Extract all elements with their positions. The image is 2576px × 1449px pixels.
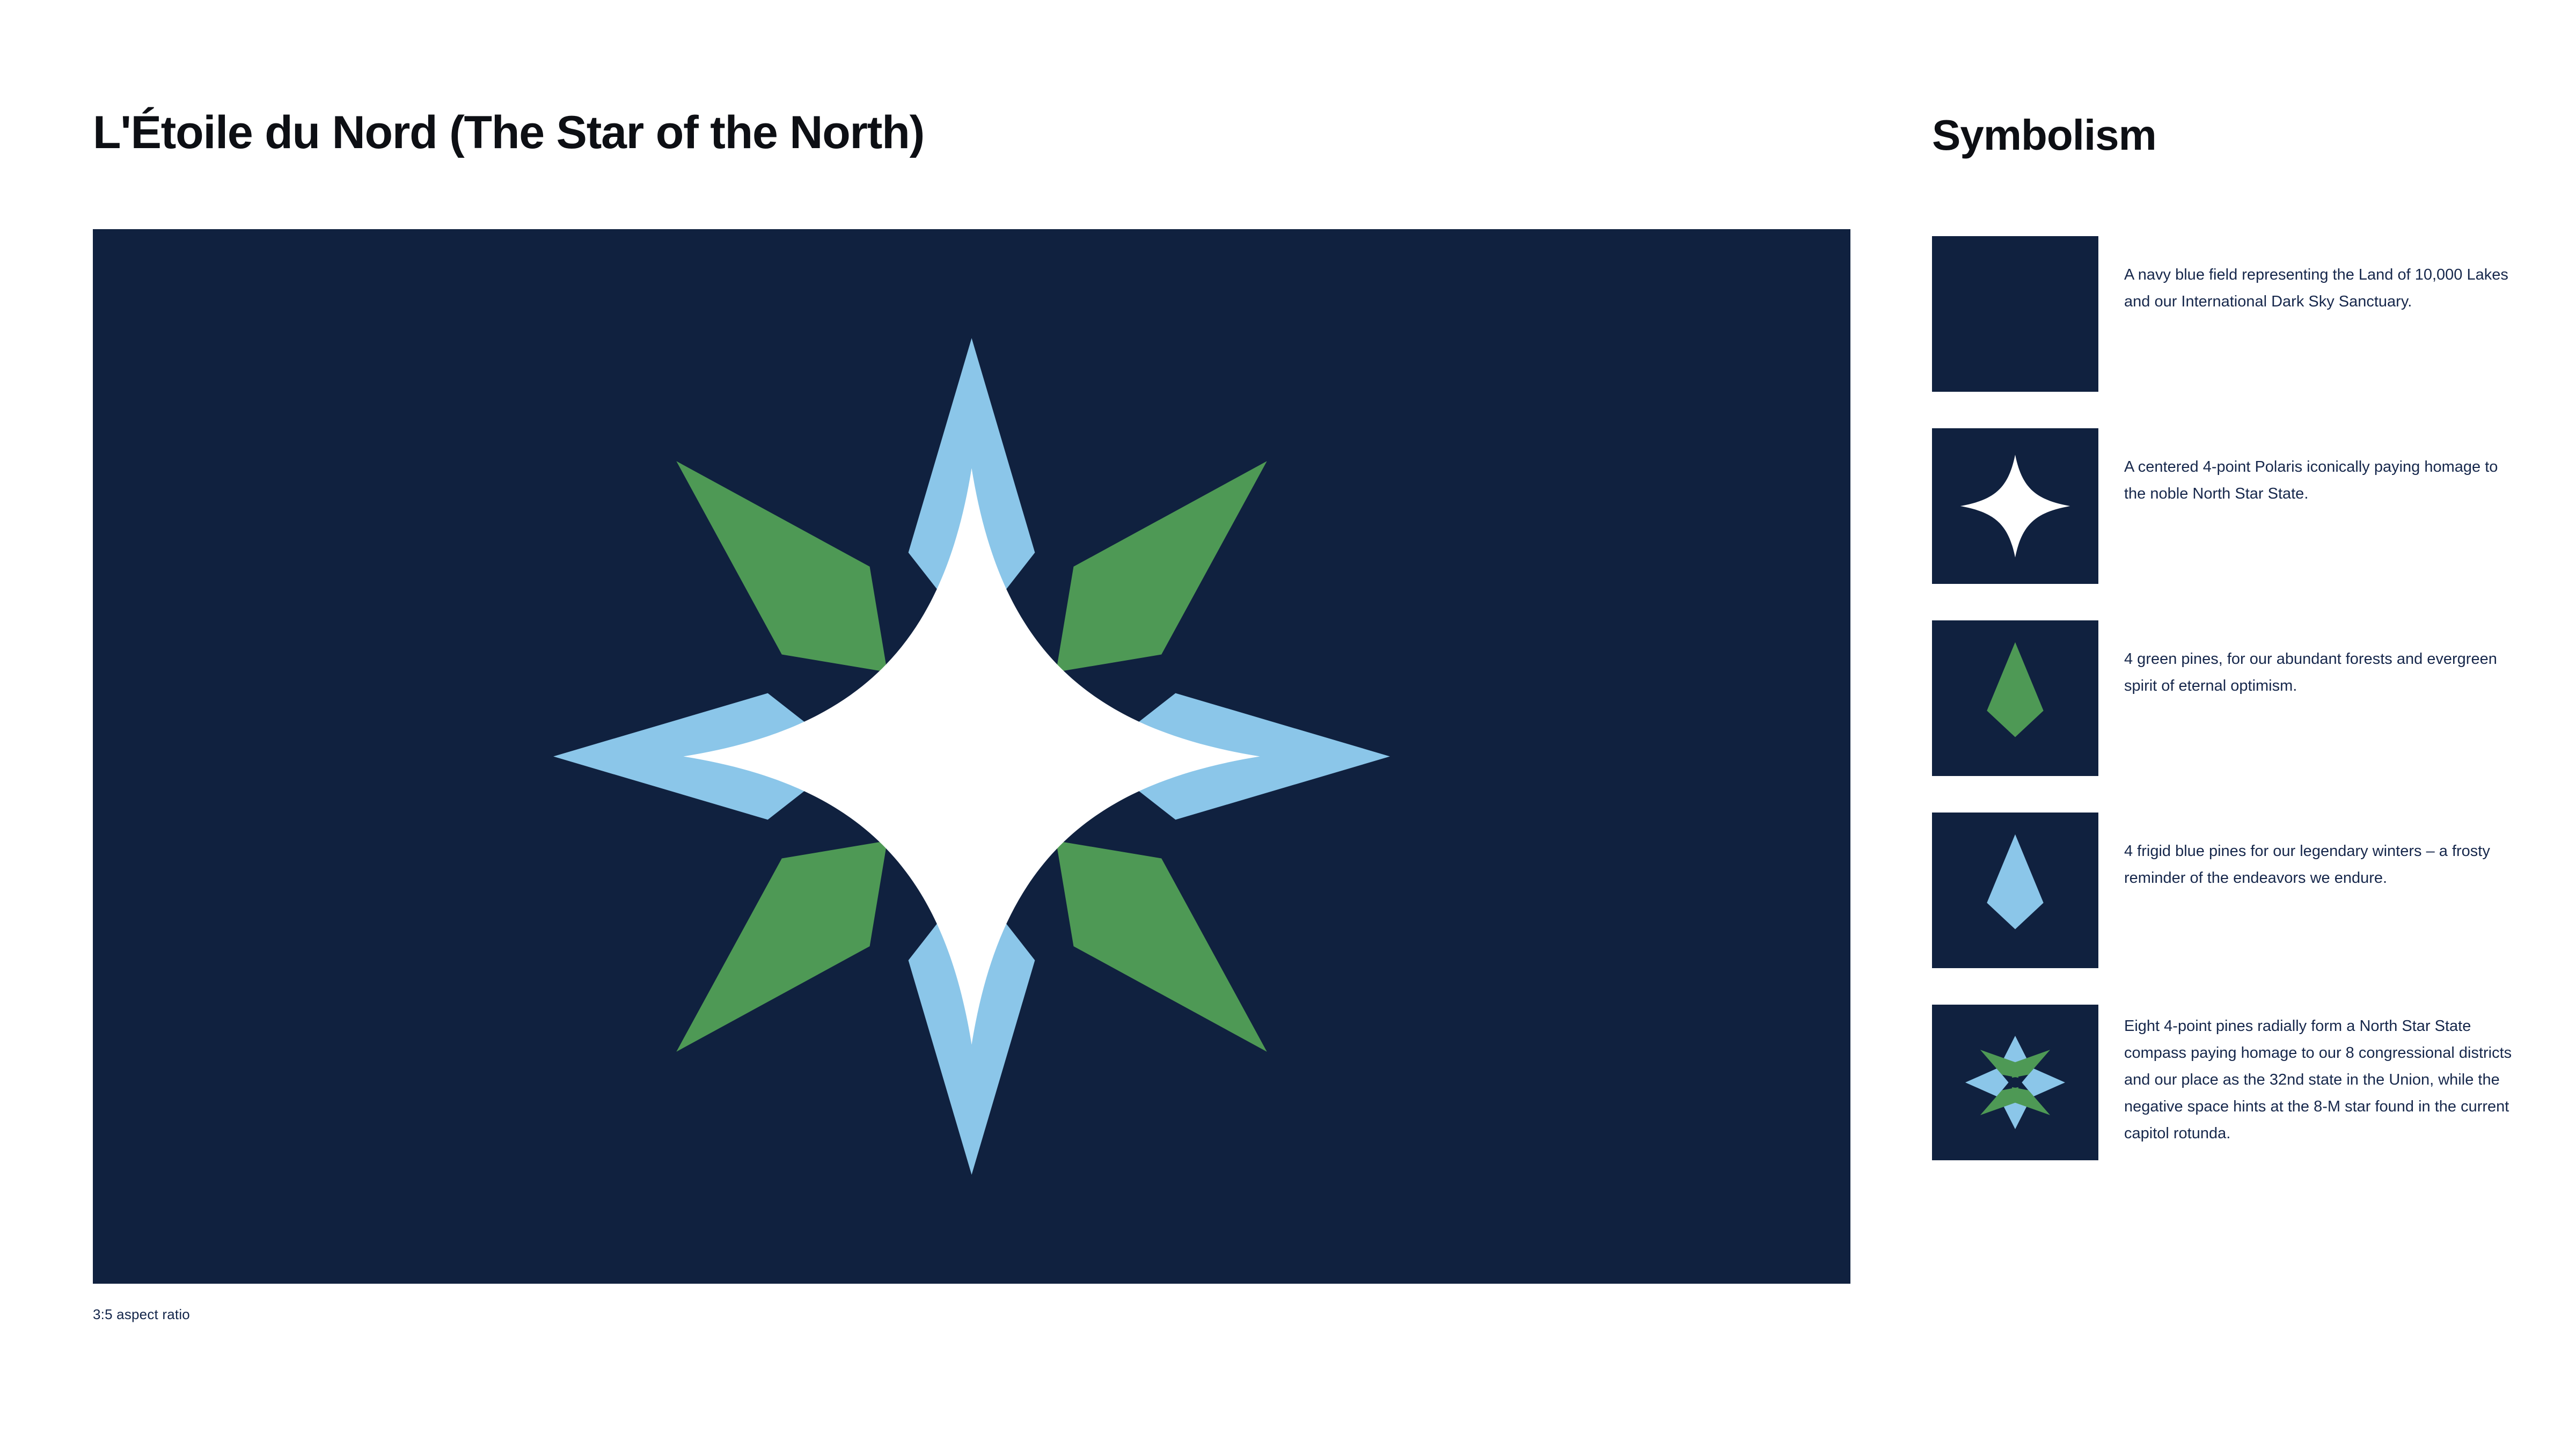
symbolism-item-green-pines: 4 green pines, for our abundant forests …: [1932, 620, 2522, 776]
blue-pine-swatch: [1932, 813, 2098, 968]
symbolism-item-navy-field: A navy blue field representing the Land …: [1932, 236, 2522, 392]
flag-svg: [93, 229, 1850, 1284]
symbolism-list: A navy blue field representing the Land …: [1932, 236, 2522, 1197]
symbolism-description: 4 green pines, for our abundant forests …: [2124, 620, 2522, 700]
blue-pine-swatch-svg: [1932, 813, 2098, 968]
symbolism-description: Eight 4-point pines radially form a Nort…: [2124, 1005, 2522, 1147]
green-pine-swatch-svg: [1932, 620, 2098, 776]
swatch-background: [1932, 1005, 2098, 1160]
navy-field-swatch: [1932, 236, 2098, 392]
polaris-star-swatch: [1932, 428, 2098, 584]
symbolism-item-polaris: A centered 4-point Polaris iconically pa…: [1932, 428, 2522, 584]
flag-artwork: [93, 229, 1850, 1284]
symbolism-item-blue-pines: 4 frigid blue pines for our legendary wi…: [1932, 813, 2522, 968]
page-title: L'Étoile du Nord (The Star of the North): [93, 106, 924, 159]
symbolism-description: 4 frigid blue pines for our legendary wi…: [2124, 813, 2522, 892]
green-pine-swatch: [1932, 620, 2098, 776]
symbolism-description: A centered 4-point Polaris iconically pa…: [2124, 428, 2522, 508]
symbolism-heading: Symbolism: [1932, 111, 2156, 160]
navy-field-rect: [1932, 236, 2098, 392]
compass-rose-swatch-svg: [1932, 1005, 2098, 1160]
symbolism-item-compass-rose: Eight 4-point pines radially form a Nort…: [1932, 1005, 2522, 1160]
symbolism-description: A navy blue field representing the Land …: [2124, 236, 2522, 316]
compass-rose-swatch: [1932, 1005, 2098, 1160]
aspect-ratio-caption: 3:5 aspect ratio: [93, 1306, 190, 1323]
polaris-swatch-svg: [1932, 428, 2098, 584]
navy-field-swatch-svg: [1932, 236, 2098, 392]
